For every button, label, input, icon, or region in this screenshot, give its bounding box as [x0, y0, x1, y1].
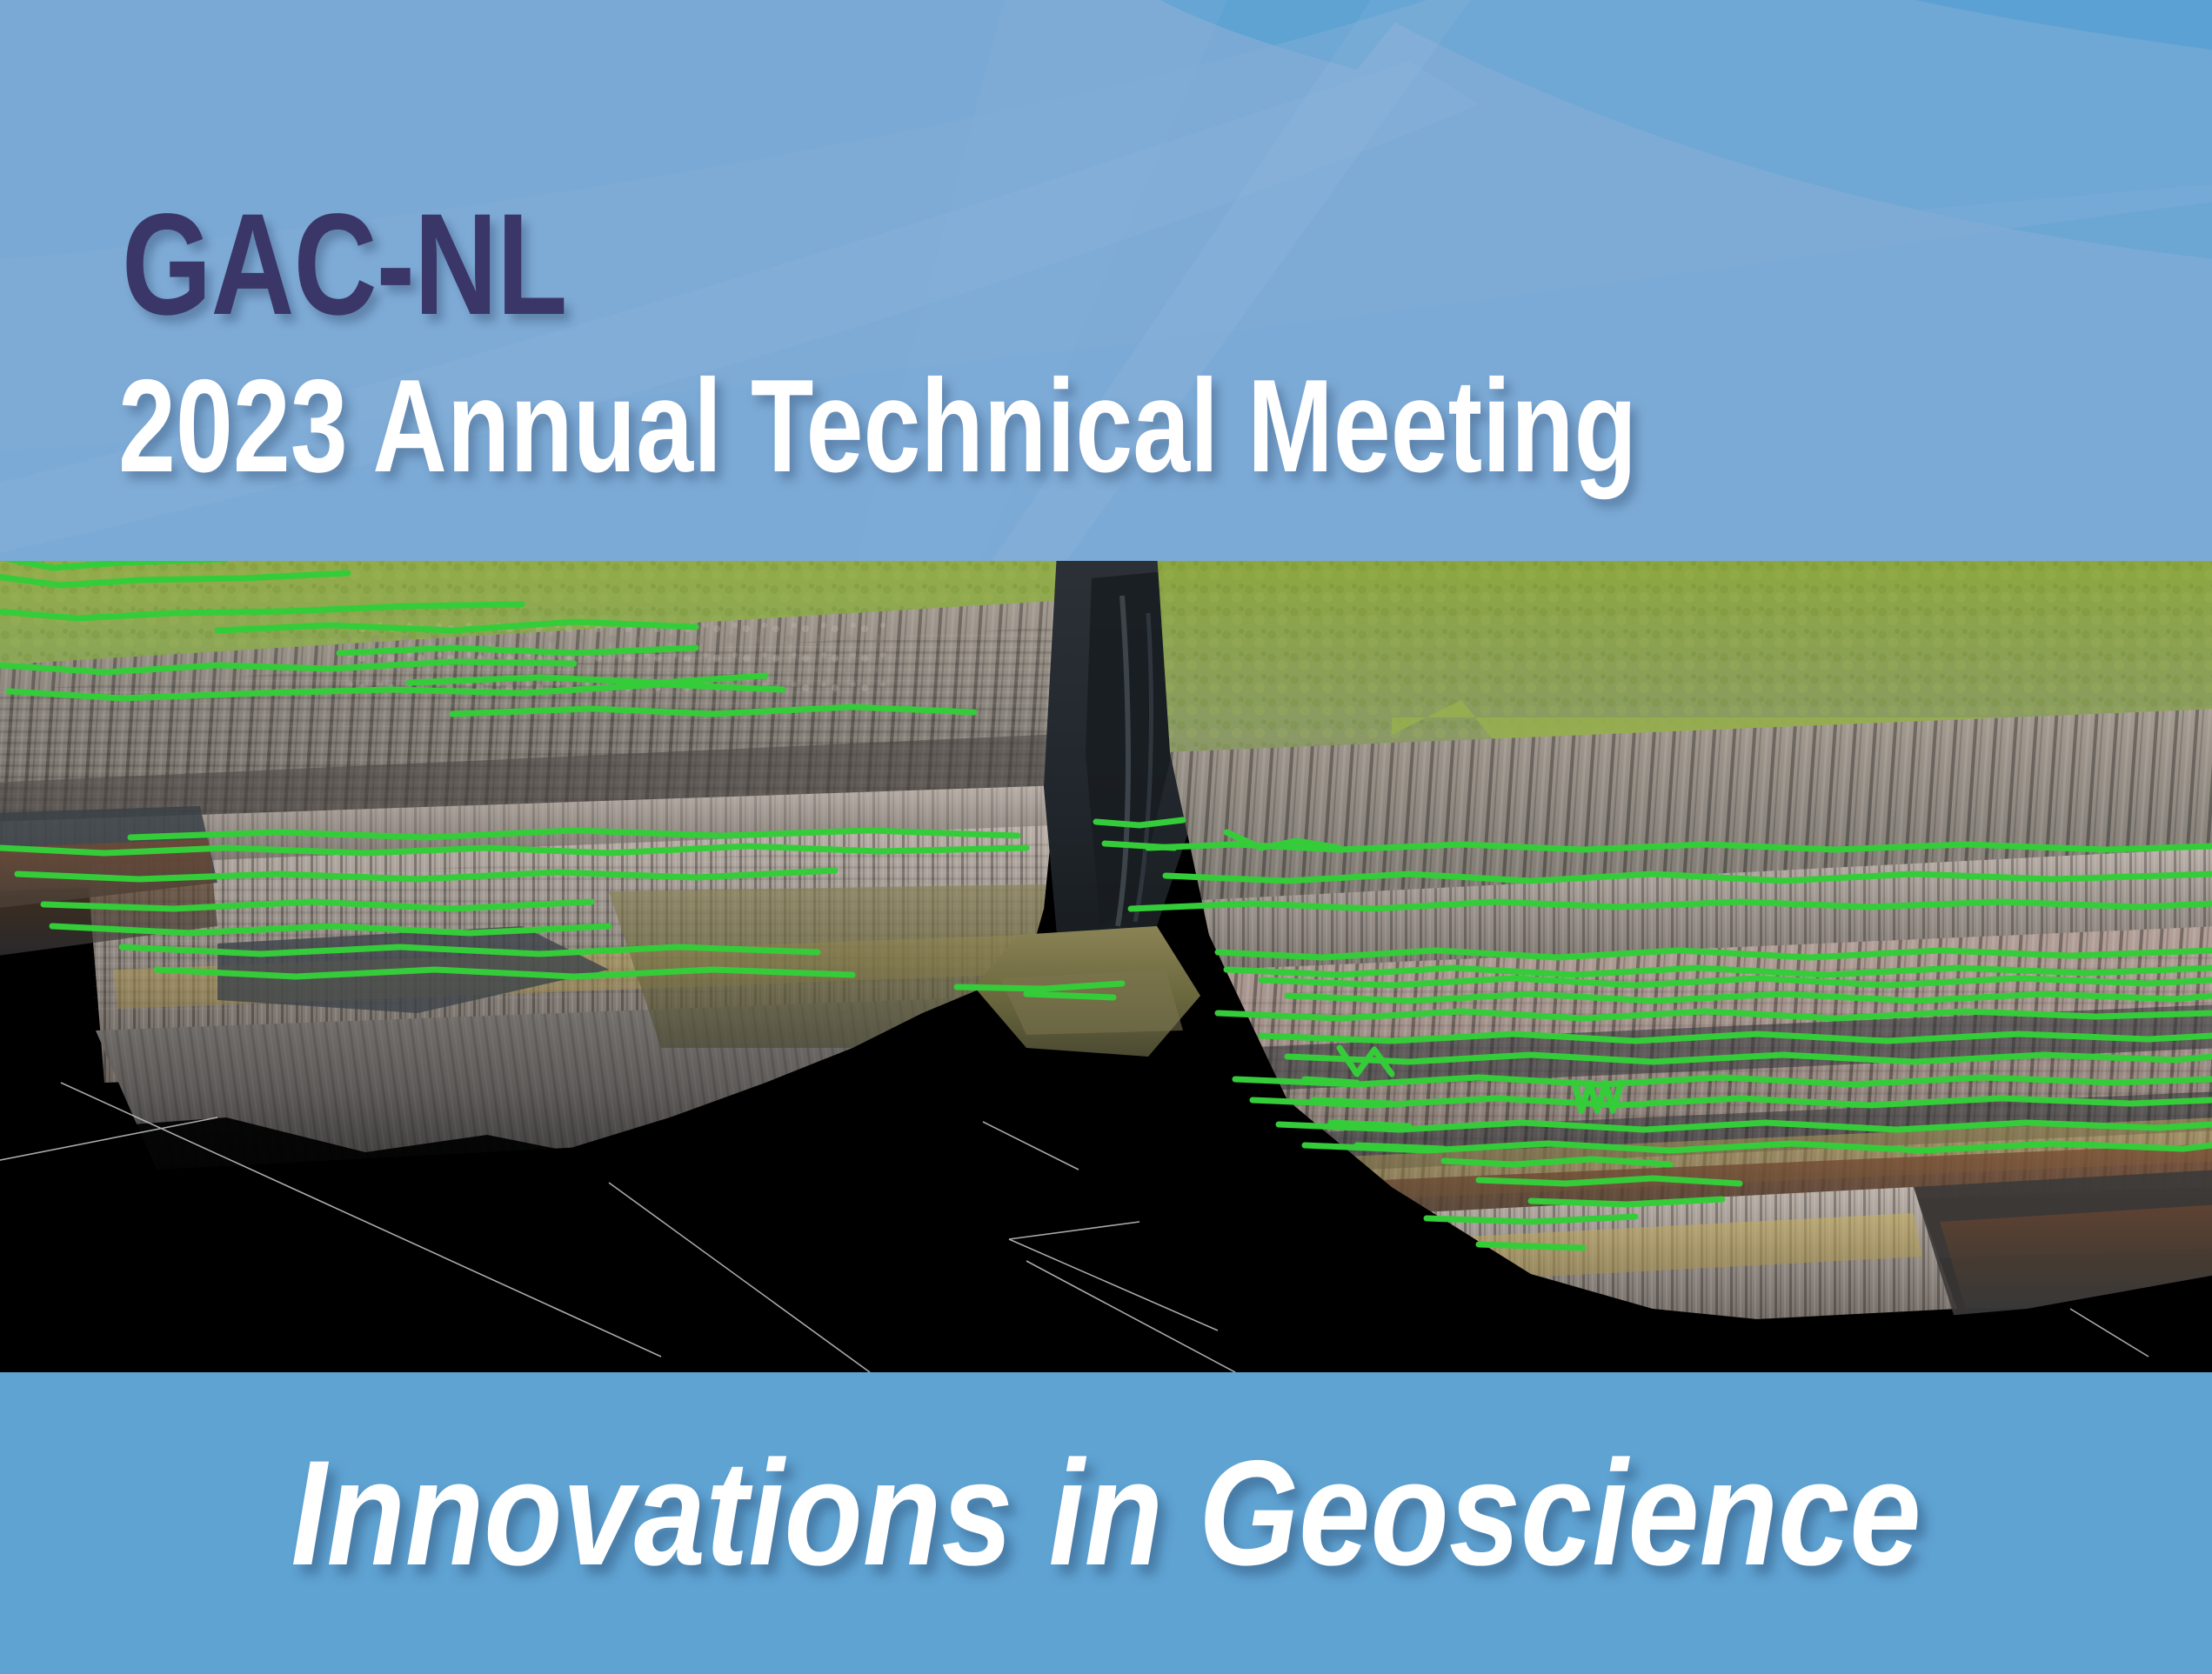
header-text-block: GAC-NL 2023 Annual Technical Meeting: [0, 0, 2212, 561]
outcrop-photogrammetry-image: [0, 561, 2212, 1372]
meeting-title: 2023 Annual Technical Meeting: [118, 360, 1637, 492]
organization-title: GAC-NL: [122, 193, 567, 337]
conference-banner: GAC-NL 2023 Annual Technical Meeting: [0, 0, 2212, 1674]
outcrop-model-render: [0, 561, 2212, 1372]
banner-footer: Innovations in Geoscience: [0, 1372, 2212, 1674]
banner-header: GAC-NL 2023 Annual Technical Meeting: [0, 0, 2212, 561]
conference-tagline: Innovations in Geoscience: [155, 1438, 2057, 1588]
